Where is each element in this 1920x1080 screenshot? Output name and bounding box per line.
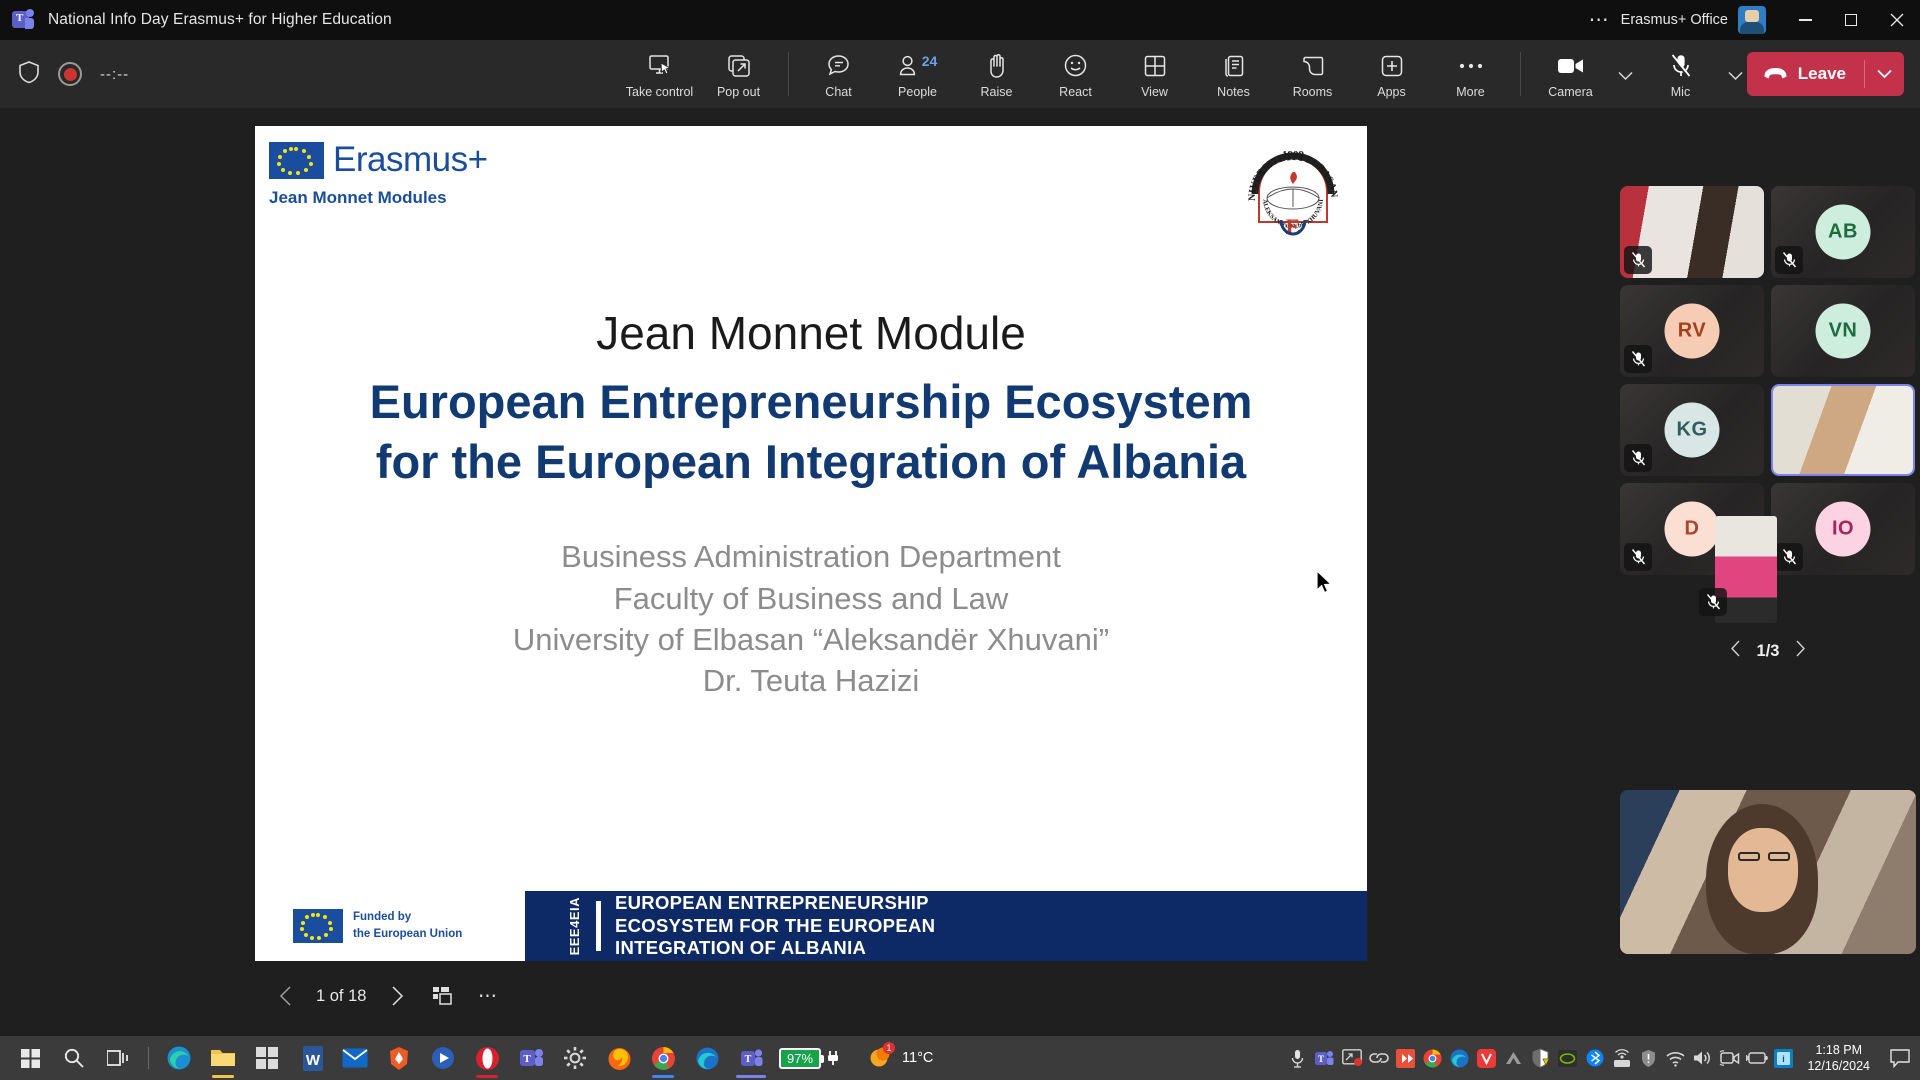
taskbar-clock[interactable]: 1:18 PM 12/16/2024 — [1797, 1042, 1880, 1075]
title-bar: National Info Day Erasmus+ for Higher Ed… — [0, 0, 1920, 40]
battery-tray-icon[interactable] — [1743, 1036, 1770, 1080]
svg-text:W: W — [305, 1052, 320, 1069]
apps-plus-icon — [1380, 52, 1404, 80]
raise-hand-icon — [986, 52, 1008, 80]
mic-button[interactable]: Mic — [1641, 50, 1720, 99]
word-icon[interactable]: W — [289, 1036, 333, 1080]
toolbar-label: View — [1141, 85, 1168, 99]
mute-icon — [1775, 246, 1803, 274]
screen-record-icon[interactable] — [1338, 1036, 1365, 1080]
avatar: RV — [1665, 304, 1720, 359]
edge-dev-icon[interactable] — [685, 1036, 729, 1080]
university-of-elbasan-logo: UNIVERSITETI I ELBASANIT 1909 "ALEKSAND\… — [1241, 136, 1345, 240]
participant-row: AB — [1620, 186, 1916, 278]
camera-chevron-down-icon[interactable] — [1610, 69, 1641, 84]
toolbar-divider — [788, 52, 789, 96]
next-slide-button[interactable] — [374, 977, 420, 1015]
apps-button[interactable]: Apps — [1352, 50, 1431, 99]
svg-text:1909: 1909 — [1282, 149, 1305, 161]
system-tray: T — [1284, 1036, 1920, 1080]
nordvpn-tray-icon[interactable] — [1500, 1036, 1527, 1080]
subtitle-line: Business Administration Department — [255, 536, 1367, 577]
camera-tray-icon[interactable] — [1716, 1036, 1743, 1080]
view-grid-icon — [1143, 52, 1167, 80]
nvidia-icon[interactable] — [1554, 1036, 1581, 1080]
firefox-icon[interactable] — [597, 1036, 641, 1080]
slide-navigation: 1 of 18 ⋯ — [262, 976, 510, 1016]
chrome-icon[interactable] — [641, 1036, 685, 1080]
toolbar-label: People — [898, 85, 937, 99]
close-icon[interactable] — [1874, 0, 1920, 40]
search-icon[interactable] — [52, 1036, 96, 1080]
view-button[interactable]: View — [1115, 50, 1194, 99]
task-view-icon[interactable] — [96, 1036, 140, 1080]
brave-icon[interactable] — [377, 1036, 421, 1080]
mute-icon — [1699, 588, 1727, 616]
link-icon[interactable] — [1365, 1036, 1392, 1080]
vivaldi-tray-icon[interactable] — [1473, 1036, 1500, 1080]
toolbar-label: Mic — [1671, 85, 1690, 99]
project-banner: EEE4EIA EUROPEAN ENTREPRENEURSHIP ECOSYS… — [525, 891, 1367, 961]
leave-label: Leave — [1798, 64, 1846, 84]
notes-button[interactable]: Notes — [1194, 50, 1273, 99]
participant-video — [1773, 386, 1913, 474]
toolbar-label: Notes — [1217, 85, 1250, 99]
subtitle-line: University of Elbasan “Aleksandër Xhuvan… — [255, 619, 1367, 660]
hangup-icon — [1763, 67, 1788, 81]
devicon-icon[interactable] — [1392, 1036, 1419, 1080]
teams-tray-icon[interactable]: T — [1311, 1036, 1338, 1080]
clock-date: 12/16/2024 — [1807, 1058, 1870, 1074]
take-control-icon — [647, 52, 673, 80]
participant-pagination: 1/3 — [1620, 640, 1916, 662]
mute-icon — [1624, 444, 1652, 472]
funded-line-1: Funded by — [353, 909, 462, 926]
teams-meeting-window: National Info Day Erasmus+ for Higher Ed… — [0, 0, 1920, 1080]
slide-subtitle: Business Administration Department Facul… — [255, 536, 1367, 701]
slide-footer: Funded by the European Union EEE4EIA EUR… — [255, 891, 1367, 961]
settings-icon[interactable] — [553, 1036, 597, 1080]
record-icon[interactable] — [58, 62, 82, 86]
erasmus-wordmark: Erasmus+ — [333, 140, 488, 180]
banner-text: EUROPEAN ENTREPRENEURSHIP ECOSYSTEM FOR … — [615, 892, 935, 960]
bluetooth-icon[interactable] — [1581, 1036, 1608, 1080]
microsoft-store-icon[interactable] — [245, 1036, 289, 1080]
camera-button[interactable]: Camera — [1531, 50, 1610, 99]
windows-taskbar: W T — [0, 1036, 1920, 1080]
toolbar-label: Take control — [626, 85, 693, 99]
participant-tile-active-speaker[interactable] — [1771, 384, 1915, 476]
banner-line-1: EUROPEAN ENTREPRENEURSHIP — [615, 892, 935, 915]
subtitle-line: Faculty of Business and Law — [255, 578, 1367, 619]
notification-chat-icon[interactable] — [1880, 1036, 1920, 1080]
prev-slide-button[interactable] — [262, 977, 308, 1015]
edge-tray-icon[interactable] — [1446, 1036, 1473, 1080]
participant-row: KG — [1620, 384, 1916, 476]
pop-out-button[interactable]: Pop out — [699, 50, 778, 99]
account-name: Erasmus+ Office — [1621, 12, 1728, 28]
meeting-timer: --:-- — [100, 66, 129, 83]
people-icon: 24 — [898, 52, 938, 80]
weather-badge: 1 — [883, 1042, 895, 1054]
toolbar-label: Apps — [1377, 85, 1406, 99]
take-control-button[interactable]: Take control — [620, 50, 699, 99]
more-horizontal-icon[interactable]: ⋯ — [1579, 10, 1621, 30]
react-button[interactable]: React — [1036, 50, 1115, 99]
window-title: National Info Day Erasmus+ for Higher Ed… — [48, 11, 392, 29]
funded-by-text: Funded by the European Union — [353, 909, 462, 942]
leave-chevron-down-icon[interactable] — [1865, 67, 1904, 82]
windows-start-icon[interactable] — [8, 1036, 52, 1080]
slide-more-icon[interactable]: ⋯ — [466, 977, 510, 1015]
subtitle-line: Dr. Teuta Hazizi — [255, 660, 1367, 701]
teams-icon[interactable]: T — [729, 1036, 773, 1080]
toolbar-label: Rooms — [1293, 85, 1333, 99]
slide-line-1: Jean Monnet Module — [255, 306, 1367, 360]
project-acronym: EEE4EIA — [567, 897, 582, 955]
edge-icon[interactable] — [157, 1036, 201, 1080]
eu-flag-icon — [293, 909, 343, 943]
power-plug-icon — [826, 1050, 840, 1066]
slide-header: Erasmus+ Jean Monnet Modules UNIVERSITET… — [255, 126, 1367, 236]
volume-icon[interactable] — [1689, 1036, 1716, 1080]
chat-button[interactable]: Chat — [799, 50, 878, 99]
more-horizontal-icon — [1458, 52, 1484, 80]
intel-icon[interactable]: i — [1770, 1036, 1797, 1080]
weather-temperature: 11°C — [902, 1050, 933, 1066]
media-player-icon[interactable] — [421, 1036, 465, 1080]
notes-icon — [1222, 52, 1246, 80]
mail-icon[interactable] — [333, 1036, 377, 1080]
maximize-icon[interactable] — [1828, 0, 1874, 40]
shared-content-stage: Erasmus+ Jean Monnet Modules UNIVERSITET… — [255, 126, 1367, 958]
participant-overflow-area: 1/3 — [1620, 500, 1916, 800]
eu-flag-icon — [269, 142, 324, 179]
svg-text:T: T — [744, 1054, 751, 1065]
svg-text:T: T — [523, 1053, 531, 1065]
banner-line-2: ECOSYSTEM FOR THE EUROPEAN — [615, 915, 935, 938]
toolbar-divider — [1520, 52, 1521, 96]
battery-widget[interactable]: 97% — [779, 1048, 840, 1069]
file-explorer-icon[interactable] — [201, 1036, 245, 1080]
mic-muted-icon — [1669, 52, 1693, 80]
raise-hand-button[interactable]: Raise — [957, 50, 1036, 99]
funded-line-2: the European Union — [353, 926, 462, 943]
people-button[interactable]: 24 People — [878, 50, 957, 99]
participant-row: RV VN — [1620, 285, 1916, 377]
router-icon[interactable] — [1608, 1036, 1635, 1080]
toolbar-label: React — [1059, 85, 1092, 99]
opera-icon[interactable] — [465, 1036, 509, 1080]
slide-counter: 1 of 18 — [308, 987, 374, 1006]
participant-tile[interactable]: AB — [1771, 186, 1915, 278]
toolbar-label: Camera — [1548, 85, 1592, 99]
avatar: KG — [1665, 403, 1720, 458]
clock-time: 1:18 PM — [1807, 1042, 1870, 1058]
toolbar-label: Pop out — [717, 85, 760, 99]
defender-warning-icon[interactable] — [1527, 1036, 1554, 1080]
rooms-button[interactable]: Rooms — [1273, 50, 1352, 99]
svg-text:T: T — [1318, 1054, 1324, 1064]
toolbar-label: Raise — [981, 85, 1013, 99]
participant-page-indicator: 1/3 — [1757, 642, 1780, 661]
slide-line-2: European Entrepreneurship Ecosystem — [255, 372, 1367, 432]
toolbar-label: Chat — [825, 85, 851, 99]
participant-tile[interactable]: VN — [1771, 285, 1915, 377]
taskbar-divider — [148, 1047, 149, 1069]
banner-divider — [596, 901, 601, 951]
funded-by-eu-block: Funded by the European Union — [255, 891, 525, 961]
minimize-icon[interactable] — [1782, 0, 1828, 40]
mic-icon[interactable] — [1284, 1036, 1311, 1080]
teams-icon — [12, 9, 34, 31]
participant-tile[interactable]: KG — [1620, 384, 1764, 476]
pop-out-icon — [727, 52, 751, 80]
battery-percent: 97% — [779, 1048, 821, 1069]
teams-personal-icon[interactable]: T — [509, 1036, 553, 1080]
weather-sun-icon: 1 — [868, 1043, 894, 1074]
leave-button[interactable]: Leave — [1747, 52, 1864, 96]
svg-text:i: i — [1783, 1054, 1786, 1064]
chevron-right-icon[interactable] — [1795, 640, 1806, 662]
toolbar-buttons: Take control Pop out — [620, 50, 1830, 99]
banner-line-3: INTEGRATION OF ALBANIA — [615, 937, 935, 960]
chevron-left-icon[interactable] — [1730, 640, 1741, 662]
chrome-tray-icon[interactable] — [1419, 1036, 1446, 1080]
slide-body: Jean Monnet Module European Entrepreneur… — [255, 306, 1367, 701]
avatar: AB — [1816, 205, 1871, 260]
shield-icon[interactable] — [18, 60, 40, 89]
speaker-tile[interactable] — [1620, 790, 1916, 954]
mute-icon — [1624, 345, 1652, 373]
presentation-slide[interactable]: Erasmus+ Jean Monnet Modules UNIVERSITET… — [255, 126, 1367, 961]
react-smiley-icon — [1063, 52, 1088, 80]
people-count-badge: 24 — [922, 53, 938, 69]
avatar[interactable] — [1738, 6, 1766, 34]
all-slides-icon[interactable] — [420, 977, 466, 1015]
mute-icon — [1624, 246, 1652, 274]
participant-tile[interactable] — [1620, 186, 1764, 278]
programme-name: Jean Monnet Modules — [269, 188, 447, 208]
meeting-toolbar: --:-- Take control — [0, 40, 1920, 108]
more-button[interactable]: More — [1431, 50, 1510, 99]
shield-grey-icon[interactable] — [1635, 1036, 1662, 1080]
breakout-rooms-icon — [1301, 52, 1325, 80]
toolbar-label: More — [1456, 85, 1484, 99]
chat-icon — [826, 52, 851, 80]
participant-tile[interactable]: RV — [1620, 285, 1764, 377]
leave-button-group: Leave — [1747, 52, 1904, 96]
wifi-icon[interactable] — [1662, 1036, 1689, 1080]
slide-line-3: for the European Integration of Albania — [255, 432, 1367, 492]
weather-widget[interactable]: 1 11°C — [868, 1043, 933, 1074]
avatar: VN — [1816, 304, 1871, 359]
camera-icon — [1557, 52, 1585, 80]
